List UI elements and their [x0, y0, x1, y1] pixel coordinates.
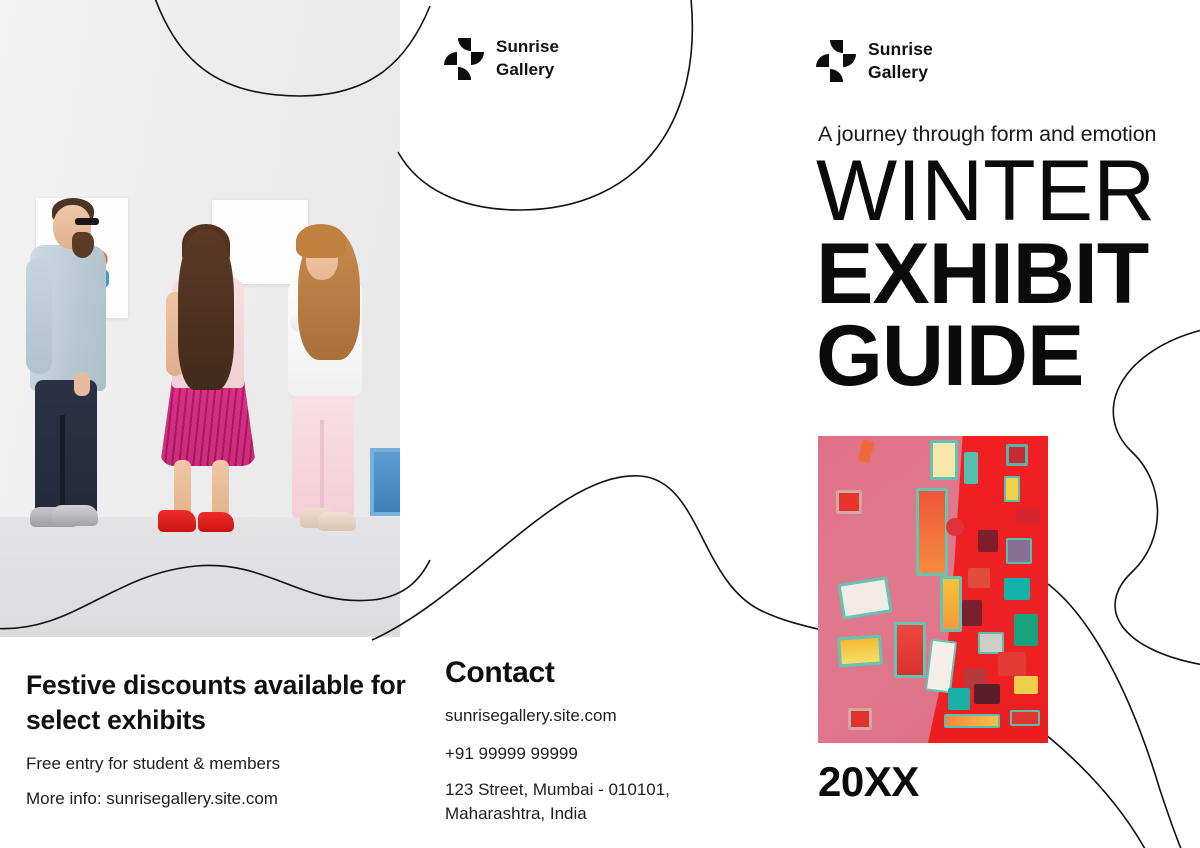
contact-address-line2: Maharashtra, India [445, 804, 587, 823]
artwork-block [837, 635, 883, 668]
artwork-block [837, 576, 892, 619]
headline-line-1: WINTER [816, 150, 1156, 233]
contact-website[interactable]: sunrisegallery.site.com [445, 704, 735, 728]
logo-center[interactable]: Sunrise Gallery [444, 36, 559, 82]
brand-name-line1: Sunrise [868, 39, 933, 59]
pinwheel-logo-icon [444, 38, 484, 80]
artwork-block [978, 530, 998, 552]
promo-heading: Festive discounts available for select e… [26, 668, 406, 738]
pinwheel-logo-icon [816, 40, 856, 82]
artwork-block [948, 688, 970, 710]
artwork-block [1004, 578, 1030, 600]
year-label: 20XX [818, 758, 919, 806]
visitor-man-arm [26, 258, 52, 374]
artwork-block [974, 684, 1000, 704]
headline-line-3: GUIDE [816, 315, 1156, 398]
artwork-block [944, 714, 1000, 728]
artwork-block [978, 632, 1004, 654]
visitor-man-legs [35, 380, 97, 516]
artwork-block [946, 518, 964, 536]
visitor-center-shoe-right [198, 512, 234, 532]
logo-right-text: Sunrise Gallery [868, 38, 933, 85]
artwork-block [894, 622, 926, 678]
visitor-man-leg-split [60, 415, 65, 515]
promo-block: Festive discounts available for select e… [26, 668, 406, 811]
artwork-block [1004, 476, 1020, 502]
visitor-right-shoe-right [318, 512, 356, 531]
visitor-center-hair [178, 230, 234, 390]
visitor-right-pant-split [320, 420, 324, 516]
visitor-center-shoe-left [158, 510, 196, 532]
blue-pedestal [370, 448, 400, 516]
headline-line-2: EXHIBIT [816, 233, 1156, 316]
promo-note-1: Free entry for student & members [26, 752, 406, 777]
artwork-block [964, 452, 978, 484]
artwork-block [1006, 538, 1032, 564]
artwork-block [998, 652, 1026, 676]
artwork-block [1010, 710, 1040, 726]
artwork-block [858, 439, 875, 463]
contact-title: Contact [445, 656, 735, 690]
contact-address: 123 Street, Mumbai - 010101, Maharashtra… [445, 778, 735, 826]
artwork-block [1006, 444, 1028, 466]
artwork-block [1014, 614, 1038, 646]
headline: WINTER EXHIBIT GUIDE [816, 150, 1156, 398]
artwork-block [848, 708, 872, 730]
contact-address-line1: 123 Street, Mumbai - 010101, [445, 780, 670, 799]
artwork-block [836, 490, 862, 514]
brochure-page: Sunrise Gallery Sunrise Gallery A journe… [0, 0, 1200, 848]
artwork-block [962, 600, 982, 626]
logo-center-text: Sunrise Gallery [496, 36, 559, 82]
curve-right-diagonal [1048, 584, 1186, 848]
artwork-block [1016, 508, 1040, 524]
visitor-center-leg-right [212, 460, 229, 518]
brand-name-line2: Gallery [868, 62, 928, 82]
contact-phone[interactable]: +91 99999 99999 [445, 742, 735, 766]
curve-top-arc [398, 0, 692, 210]
logo-right[interactable]: Sunrise Gallery [816, 38, 933, 85]
gallery-visitors-photo [0, 0, 400, 637]
artwork-block [968, 568, 990, 588]
visitor-man-glasses [75, 218, 99, 225]
artwork-block [1014, 676, 1038, 694]
artwork-block [930, 440, 958, 480]
brand-name-line2: Gallery [496, 60, 554, 79]
artwork-block [916, 488, 948, 576]
visitor-man-shoe-right [52, 505, 98, 526]
promo-note-2: More info: sunrisegallery.site.com [26, 787, 406, 812]
visitor-right-hair-front [296, 224, 346, 258]
artwork-block [940, 576, 962, 632]
brand-name-line1: Sunrise [496, 37, 559, 56]
contact-block: Contact sunrisegallery.site.com +91 9999… [445, 656, 735, 827]
gallery-floor [0, 517, 400, 637]
visitor-man-hand [74, 372, 90, 396]
abstract-painting [818, 436, 1048, 743]
